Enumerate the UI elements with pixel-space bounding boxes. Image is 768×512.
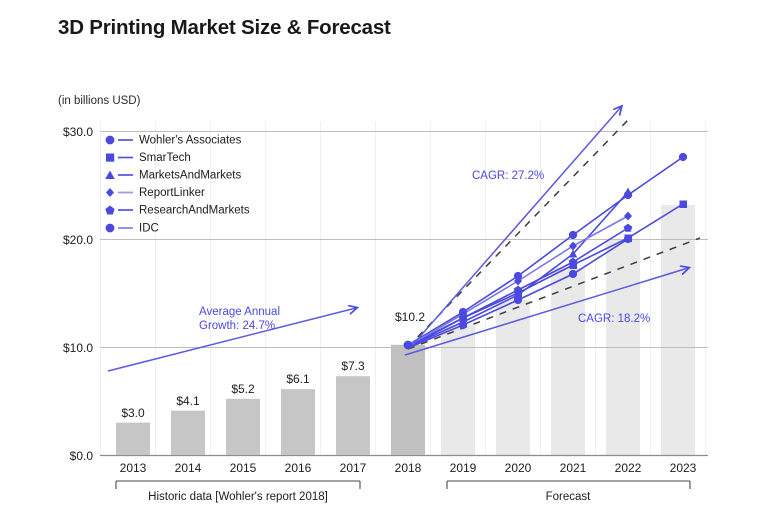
marker-point: [624, 212, 632, 221]
legend-item-marketsandmarkets[interactable]: MarketsAndMarkets: [105, 170, 241, 182]
x-tick-2015: 2015: [230, 461, 257, 475]
x-tick-2020: 2020: [505, 461, 532, 475]
bar-2015: [226, 399, 260, 455]
bracket-line: [447, 481, 690, 489]
bar-label-2014: $4.1: [176, 394, 200, 408]
legend-item-reportlinker[interactable]: ReportLinker: [106, 187, 205, 199]
y-tick-20: $20.0: [63, 233, 93, 247]
legend-label: IDC: [139, 223, 159, 235]
x-tick-2014: 2014: [175, 461, 202, 475]
marker-point: [459, 321, 467, 329]
forecast-bracket: Forecast: [447, 481, 690, 503]
legend-label: MarketsAndMarkets: [139, 170, 242, 182]
legend-circle-icon: [106, 224, 115, 233]
marker-point: [624, 188, 633, 196]
legend-label: Wohler's Associates: [139, 135, 242, 147]
bracket-label: Forecast: [546, 491, 592, 503]
bar-2014: [171, 411, 205, 455]
bar-2017: [336, 376, 370, 455]
bar-2019: [441, 325, 475, 455]
avg-growth-label-line2: Growth: 24.7%: [199, 320, 275, 332]
bar-2021: [551, 268, 585, 455]
bar-label-2013: $3.0: [121, 406, 145, 420]
market-forecast-chart: $30.0 $20.0 $10.0 $0.0 2013 2014 2015 20…: [0, 0, 768, 512]
legend-item-idc[interactable]: IDC: [106, 223, 159, 235]
marker-point: [404, 341, 413, 350]
marker-point: [514, 286, 523, 294]
forecast-bars: [441, 205, 695, 455]
bar-2013: [116, 423, 150, 455]
x-tick-2021: 2021: [560, 461, 587, 475]
legend-circle-icon: [106, 136, 115, 145]
marker-point: [680, 201, 688, 209]
marker-point: [679, 153, 687, 161]
avg-growth-label-line1: Average Annual: [199, 306, 280, 318]
bar-label-2018: $10.2: [395, 310, 425, 324]
bar-2018: [391, 345, 425, 455]
bar-2020: [496, 300, 530, 455]
cagr-lower-label: CAGR: 18.2%: [578, 313, 650, 325]
legend-diamond-icon: [106, 188, 114, 197]
cagr-upper-label: CAGR: 27.2%: [472, 170, 544, 182]
bar-label-2016: $6.1: [286, 372, 310, 386]
historic-bars: [116, 345, 425, 455]
bar-2023: [661, 205, 695, 455]
marker-point: [569, 270, 577, 278]
bar-2016: [281, 389, 315, 455]
bracket-label: Historic data [Wohler's report 2018]: [148, 491, 328, 503]
legend-label: ResearchAndMarkets: [139, 205, 250, 217]
chart-legend: Wohler's Associates SmarTech MarketsAndM…: [105, 135, 250, 235]
x-tick-2016: 2016: [285, 461, 312, 475]
legend-pentagon-icon: [105, 206, 114, 215]
marker-point: [624, 224, 633, 232]
legend-triangle-icon: [105, 171, 115, 180]
bar-label-2015: $5.2: [231, 382, 255, 396]
y-tick-30: $30.0: [63, 125, 93, 139]
y-tick-0: $0.0: [70, 449, 94, 463]
legend-item-smartech[interactable]: SmarTech: [106, 152, 191, 164]
marker-point: [624, 235, 632, 243]
legend-item-wohlers-associates[interactable]: Wohler's Associates: [106, 135, 242, 147]
x-tick-2022: 2022: [615, 461, 642, 475]
chart-page: 3D Printing Market Size & Forecast (in b…: [0, 0, 768, 512]
legend-label: ReportLinker: [139, 187, 205, 199]
marker-point: [514, 296, 522, 304]
x-tick-2013: 2013: [120, 461, 147, 475]
bar-label-2017: $7.3: [341, 359, 365, 373]
bracket-line: [116, 481, 360, 489]
x-tick-2019: 2019: [450, 461, 477, 475]
legend-square-icon: [106, 154, 114, 162]
marker-point: [569, 242, 577, 251]
marker-point: [569, 258, 578, 266]
x-tick-2017: 2017: [340, 461, 367, 475]
cagr-lower-arrow: [405, 268, 688, 355]
legend-label: SmarTech: [139, 152, 191, 164]
x-tick-2023: 2023: [670, 461, 697, 475]
y-tick-10: $10.0: [63, 341, 93, 355]
x-tick-2018: 2018: [395, 461, 422, 475]
historic-bracket: Historic data [Wohler's report 2018]: [116, 481, 360, 503]
legend-item-researchandmarkets[interactable]: ResearchAndMarkets: [105, 205, 249, 217]
marker-point: [569, 231, 577, 239]
